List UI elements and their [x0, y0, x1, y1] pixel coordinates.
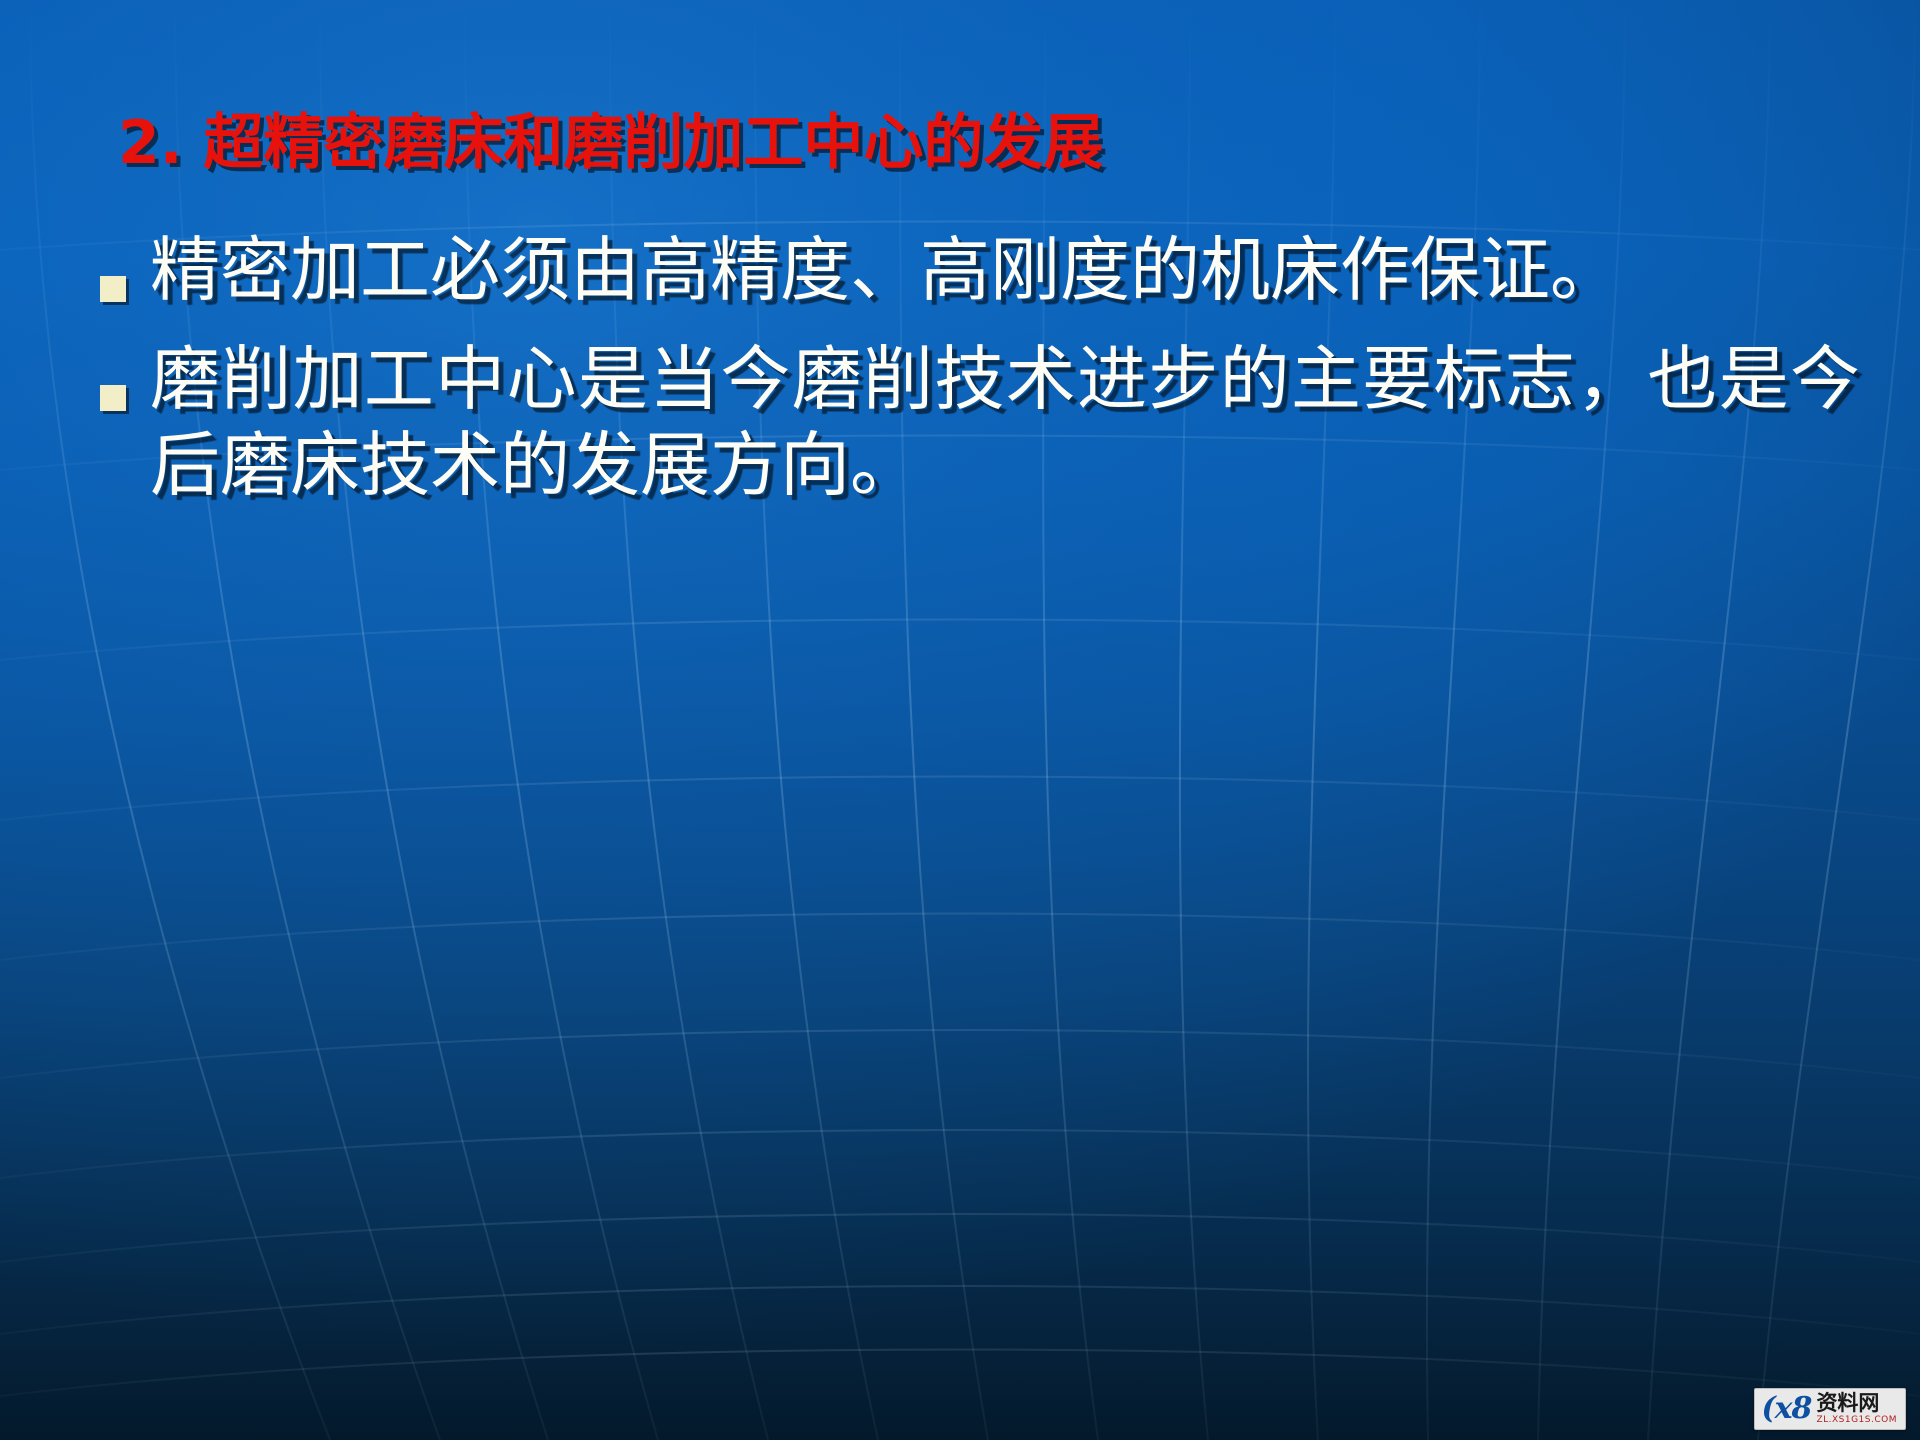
- watermark-site-name: 资料网: [1816, 1393, 1897, 1414]
- watermark-logo-icon: (x8: [1761, 1394, 1811, 1424]
- watermark-site-url: ZL.XS1G1S.COM: [1816, 1416, 1897, 1425]
- bullet-text: 磨削加工中心是当今磨削技术进步的主要标志，也是今后磨床技术的发展方向。: [150, 337, 1860, 508]
- list-item: 磨削加工中心是当今磨削技术进步的主要标志，也是今后磨床技术的发展方向。: [100, 337, 1860, 508]
- bullet-text: 精密加工必须由高精度、高刚度的机床作保证。: [150, 228, 1860, 313]
- watermark-badge: (x8 资料网 ZL.XS1G1S.COM: [1754, 1388, 1906, 1430]
- presentation-slide: 2. 超精密磨床和磨削加工中心的发展 精密加工必须由高精度、高刚度的机床作保证。…: [0, 0, 1920, 1440]
- square-bullet-icon: [100, 276, 126, 302]
- bullet-list: 精密加工必须由高精度、高刚度的机床作保证。 磨削加工中心是当今磨削技术进步的主要…: [100, 228, 1860, 532]
- slide-title: 2. 超精密磨床和磨削加工中心的发展: [118, 112, 1818, 175]
- list-item: 精密加工必须由高精度、高刚度的机床作保证。: [100, 228, 1860, 313]
- square-bullet-icon: [100, 385, 126, 411]
- slide-content: 2. 超精密磨床和磨削加工中心的发展 精密加工必须由高精度、高刚度的机床作保证。…: [0, 0, 1920, 1440]
